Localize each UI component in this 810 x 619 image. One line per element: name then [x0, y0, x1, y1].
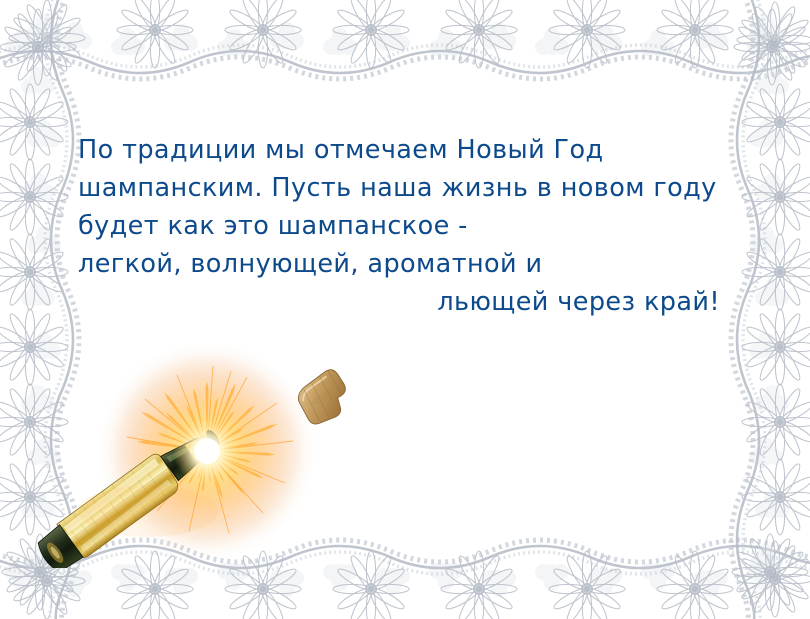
greeting-card: По традиции мы отмечаем Новый Год шампан… [0, 0, 810, 619]
verse-line-4: легкой, волнующей, ароматной и [78, 245, 738, 283]
verse-line-3: будет как это шампанское - [78, 207, 738, 245]
verse-line-5: льющей через край! [78, 283, 738, 321]
verse-line-1: По традиции мы отмечаем Новый Год [78, 131, 738, 169]
verse-line-2: шампанским. Пусть наша жизнь в новом год… [78, 169, 738, 207]
greeting-verse: По традиции мы отмечаем Новый Год шампан… [78, 131, 738, 321]
champagne-illustration [28, 336, 358, 568]
lace-border-top [0, 0, 810, 96]
